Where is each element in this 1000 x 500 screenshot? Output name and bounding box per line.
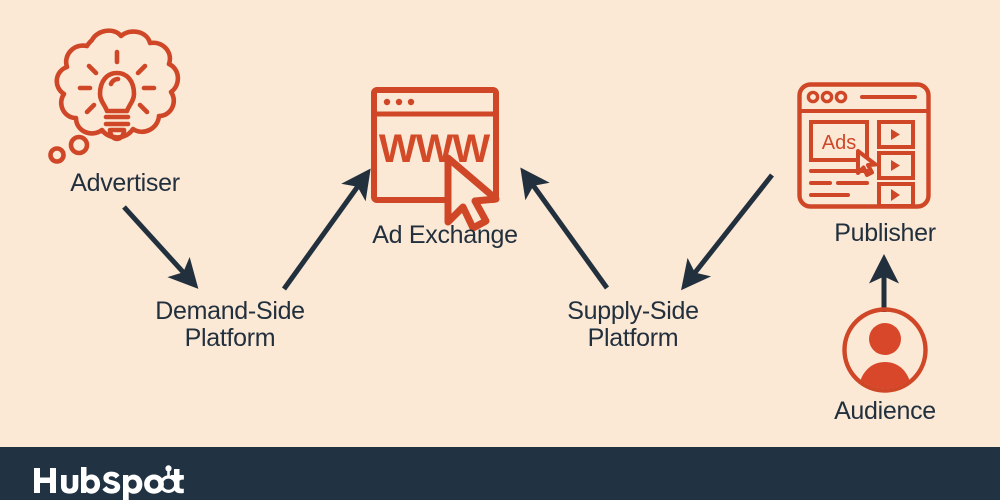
person-avatar-icon (841, 306, 929, 394)
node-label-ad-exchange: Ad Exchange (330, 222, 560, 249)
browser-window-www-cursor-icon: WWW (370, 86, 520, 216)
publisher-ads-text: Ads (822, 132, 856, 154)
node-label-supply-side-platform: Supply-Side Platform (513, 298, 753, 352)
lightbulb-thought-bubble-icon (44, 24, 184, 166)
hubspot-logo (32, 463, 202, 497)
arrow-advertiser-to-dsp (124, 207, 193, 283)
publisher-webpage-ads-icon: Ads (796, 81, 932, 210)
node-label-demand-side-platform: Demand-Side Platform (110, 298, 350, 352)
node-label-audience: Audience (780, 398, 990, 425)
diagram-canvas: Advertiser Demand-Side Platform WWW Ad E… (0, 0, 1000, 500)
video-thumbnail-icons (879, 122, 913, 206)
arrow-publisher-to-ssp (686, 175, 772, 284)
browser-www-text: WWW (379, 127, 491, 171)
node-label-publisher: Publisher (770, 220, 1000, 247)
diagram-area: Advertiser Demand-Side Platform WWW Ad E… (0, 0, 1000, 447)
hubspot-wordmark-icon (32, 463, 202, 497)
node-label-advertiser: Advertiser (0, 170, 250, 197)
